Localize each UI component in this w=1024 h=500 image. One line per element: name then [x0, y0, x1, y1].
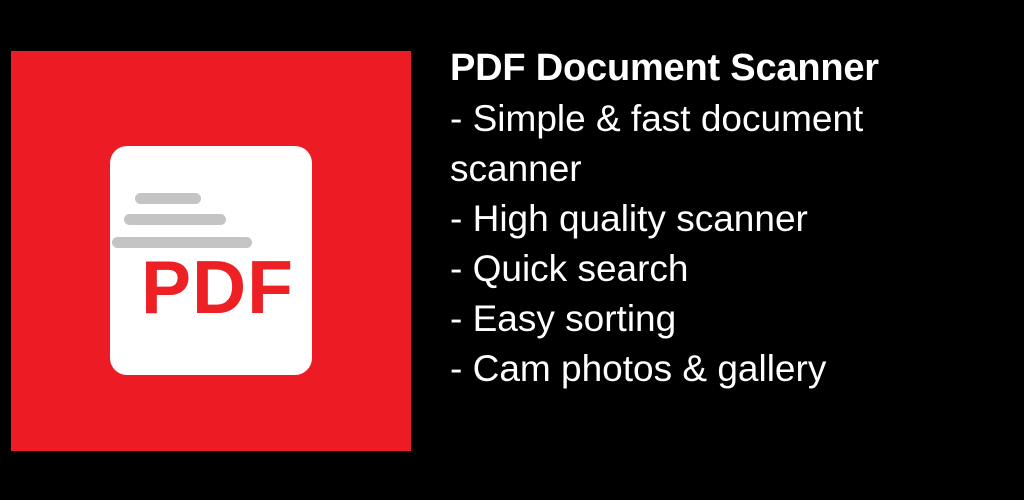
feature-line-4: - Easy sorting	[450, 294, 1016, 344]
app-store-feature-graphic: PDF PDF Document Scanner - Simple & fast…	[0, 0, 1024, 500]
feature-line-2: - High quality scanner	[450, 194, 1016, 244]
feature-line-3: - Quick search	[450, 244, 1016, 294]
feature-line-1: - Simple & fast document	[450, 94, 1016, 144]
feature-line-1-wrap: scanner	[450, 144, 1016, 194]
app-icon[interactable]: PDF	[11, 51, 411, 451]
doc-text-line-2	[124, 214, 226, 225]
doc-text-line-1	[135, 193, 201, 204]
listing-text-panel: PDF Document Scanner - Simple & fast doc…	[450, 46, 1016, 394]
feature-line-5: - Cam photos & gallery	[450, 344, 1016, 394]
pdf-scanner-icon-graphic: PDF	[11, 51, 411, 451]
app-title: PDF Document Scanner	[450, 46, 1016, 90]
pdf-wordmark: PDF	[141, 245, 294, 329]
feature-list: - Simple & fast document scanner - High …	[450, 94, 1016, 394]
